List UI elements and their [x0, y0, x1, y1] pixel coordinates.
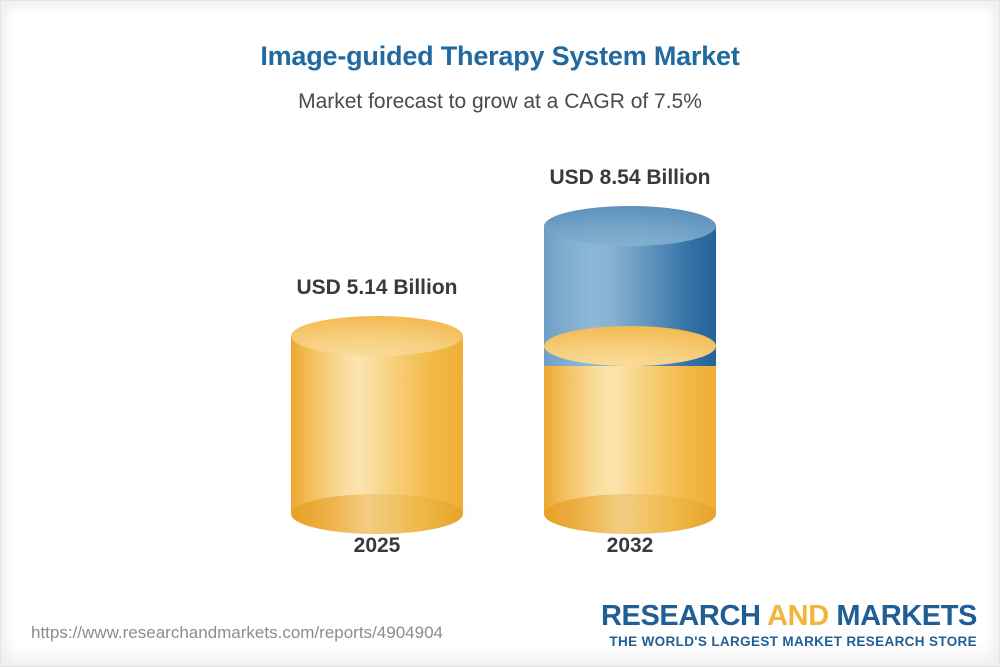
- logo-tagline: THE WORLD'S LARGEST MARKET RESEARCH STOR…: [601, 634, 977, 649]
- bar-body-2025: [291, 336, 463, 514]
- bar-bottom-cap-2032: [544, 494, 716, 534]
- chart-poster: Image-guided Therapy System Market Marke…: [0, 0, 1000, 667]
- bar-value-label-2025: USD 5.14 Billion: [251, 276, 503, 300]
- research-and-markets-logo[interactable]: RESEARCH AND MARKETS THE WORLD'S LARGEST…: [601, 601, 977, 649]
- bar-category-label-2032: 2032: [504, 534, 756, 558]
- bar-chart-plot-area: USD 5.14 Billion 2025 USD 8.54 Billion: [1, 1, 1000, 667]
- bar-top-cap-2025: [291, 316, 463, 356]
- bar-base-segment-body-2032: [544, 346, 716, 514]
- bar-value-label-2032: USD 8.54 Billion: [504, 166, 756, 190]
- bar-segment-divider-2032: [544, 326, 716, 366]
- report-url[interactable]: https://www.researchandmarkets.com/repor…: [31, 623, 443, 643]
- bar-top-cap-2032: [544, 206, 716, 246]
- bar-category-label-2025: 2025: [251, 534, 503, 558]
- logo-word-research: RESEARCH: [601, 600, 767, 632]
- bar-bottom-cap-2025: [291, 494, 463, 534]
- logo-wordmark: RESEARCH AND MARKETS: [601, 601, 977, 631]
- logo-word-and: AND: [767, 600, 829, 632]
- logo-word-markets: MARKETS: [829, 600, 977, 632]
